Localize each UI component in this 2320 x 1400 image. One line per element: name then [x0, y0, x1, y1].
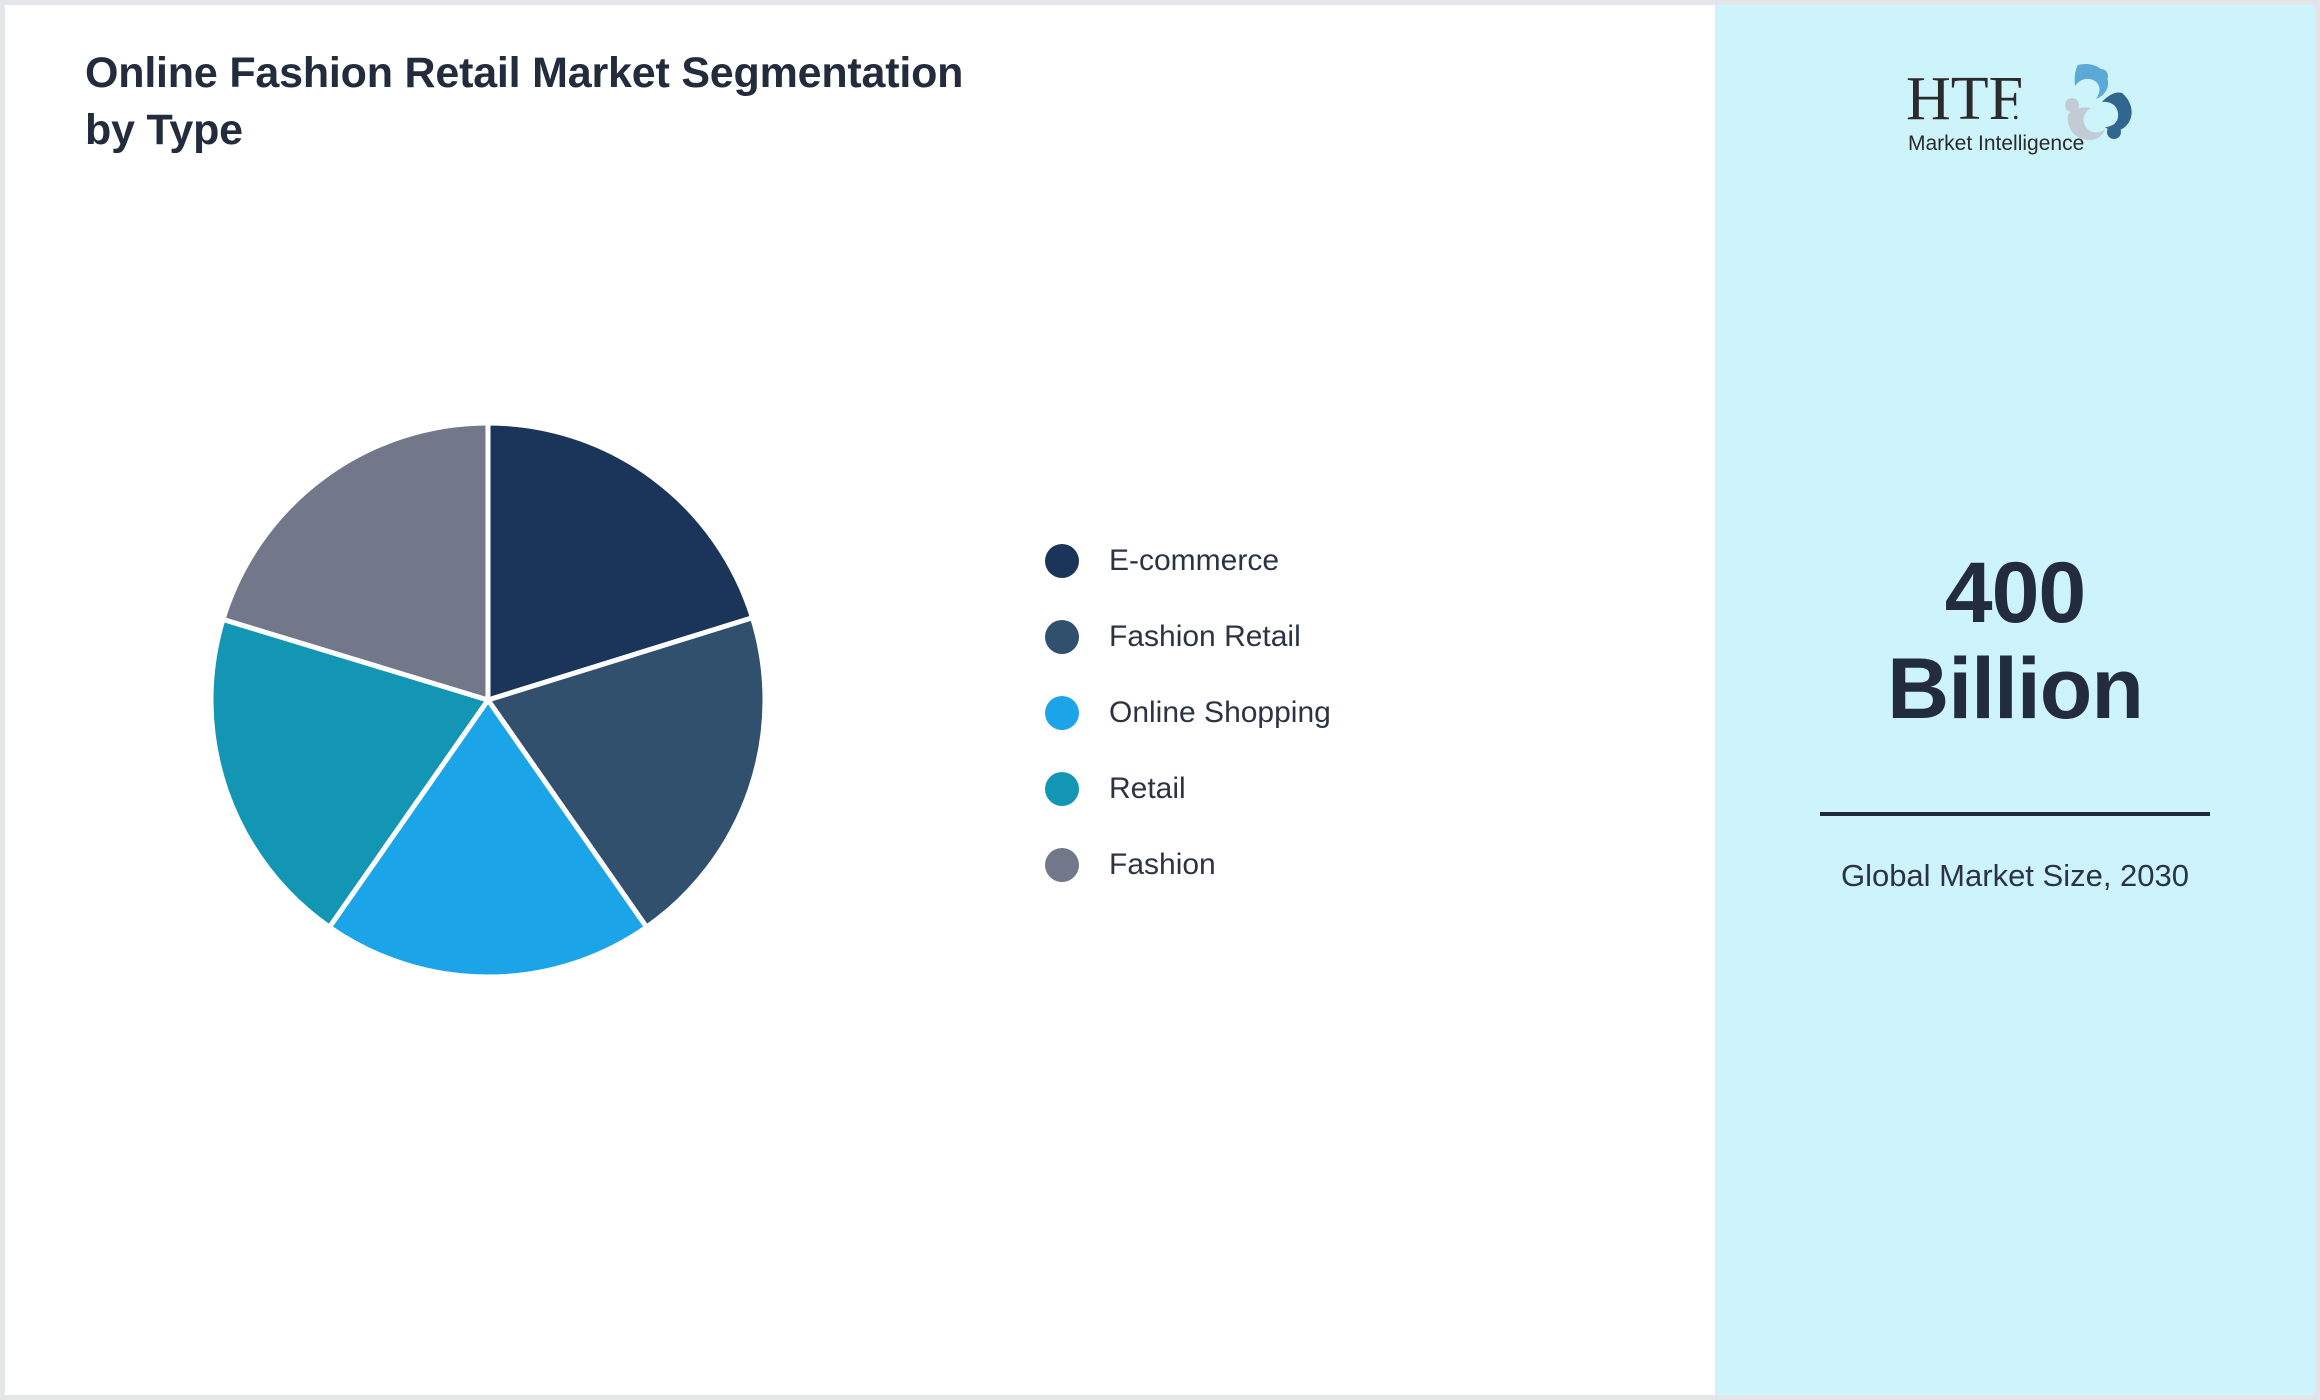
logo-tagline: Market Intelligence — [1908, 132, 2084, 155]
stat-divider — [1820, 812, 2210, 816]
legend-swatch-icon — [1045, 620, 1079, 654]
stat-value-line: Billion — [1745, 641, 2285, 737]
stat-value: 400Billion — [1715, 545, 2315, 738]
htf-market-intelligence-logo: HTF . Market Intelligence — [1890, 53, 2140, 158]
legend-item-label: E-commerce — [1109, 544, 1279, 578]
infographic-canvas: Online Fashion Retail Market Segmentatio… — [0, 0, 2320, 1400]
legend-item[interactable]: E-commerce — [1045, 523, 1465, 599]
pie-chart-svg — [200, 410, 780, 990]
legend-swatch-icon — [1045, 544, 1079, 578]
legend-item-label: Online Shopping — [1109, 696, 1331, 730]
legend-item[interactable]: Online Shopping — [1045, 675, 1465, 751]
legend-swatch-icon — [1045, 772, 1079, 806]
legend-item-label: Retail — [1109, 772, 1186, 806]
logo-dot: . — [2012, 93, 2020, 126]
stat-panel: HTF . Market Intelligence 400Billion Glo… — [1715, 5, 2315, 1395]
legend-swatch-icon — [1045, 848, 1079, 882]
legend-item[interactable]: Fashion — [1045, 827, 1465, 903]
legend-item-label: Fashion Retail — [1109, 620, 1301, 654]
pie-chart — [200, 410, 780, 990]
legend-item-label: Fashion — [1109, 848, 1216, 882]
chart-legend: E-commerceFashion RetailOnline ShoppingR… — [1045, 523, 1465, 903]
legend-item[interactable]: Retail — [1045, 751, 1465, 827]
legend-swatch-icon — [1045, 696, 1079, 730]
logo-wordmark: HTF — [1906, 65, 2023, 133]
stat-caption: Global Market Size, 2030 — [1715, 856, 2315, 897]
stat-value-line: 400 — [1745, 545, 2285, 641]
stat-block: 400Billion Global Market Size, 2030 — [1715, 545, 2315, 897]
logo-svg: HTF . Market Intelligence — [1890, 53, 2140, 158]
page-title: Online Fashion Retail Market Segmentatio… — [85, 45, 1005, 159]
chart-panel: Online Fashion Retail Market Segmentatio… — [5, 5, 1715, 1395]
legend-item[interactable]: Fashion Retail — [1045, 599, 1465, 675]
logo-figures-icon — [2065, 64, 2132, 140]
